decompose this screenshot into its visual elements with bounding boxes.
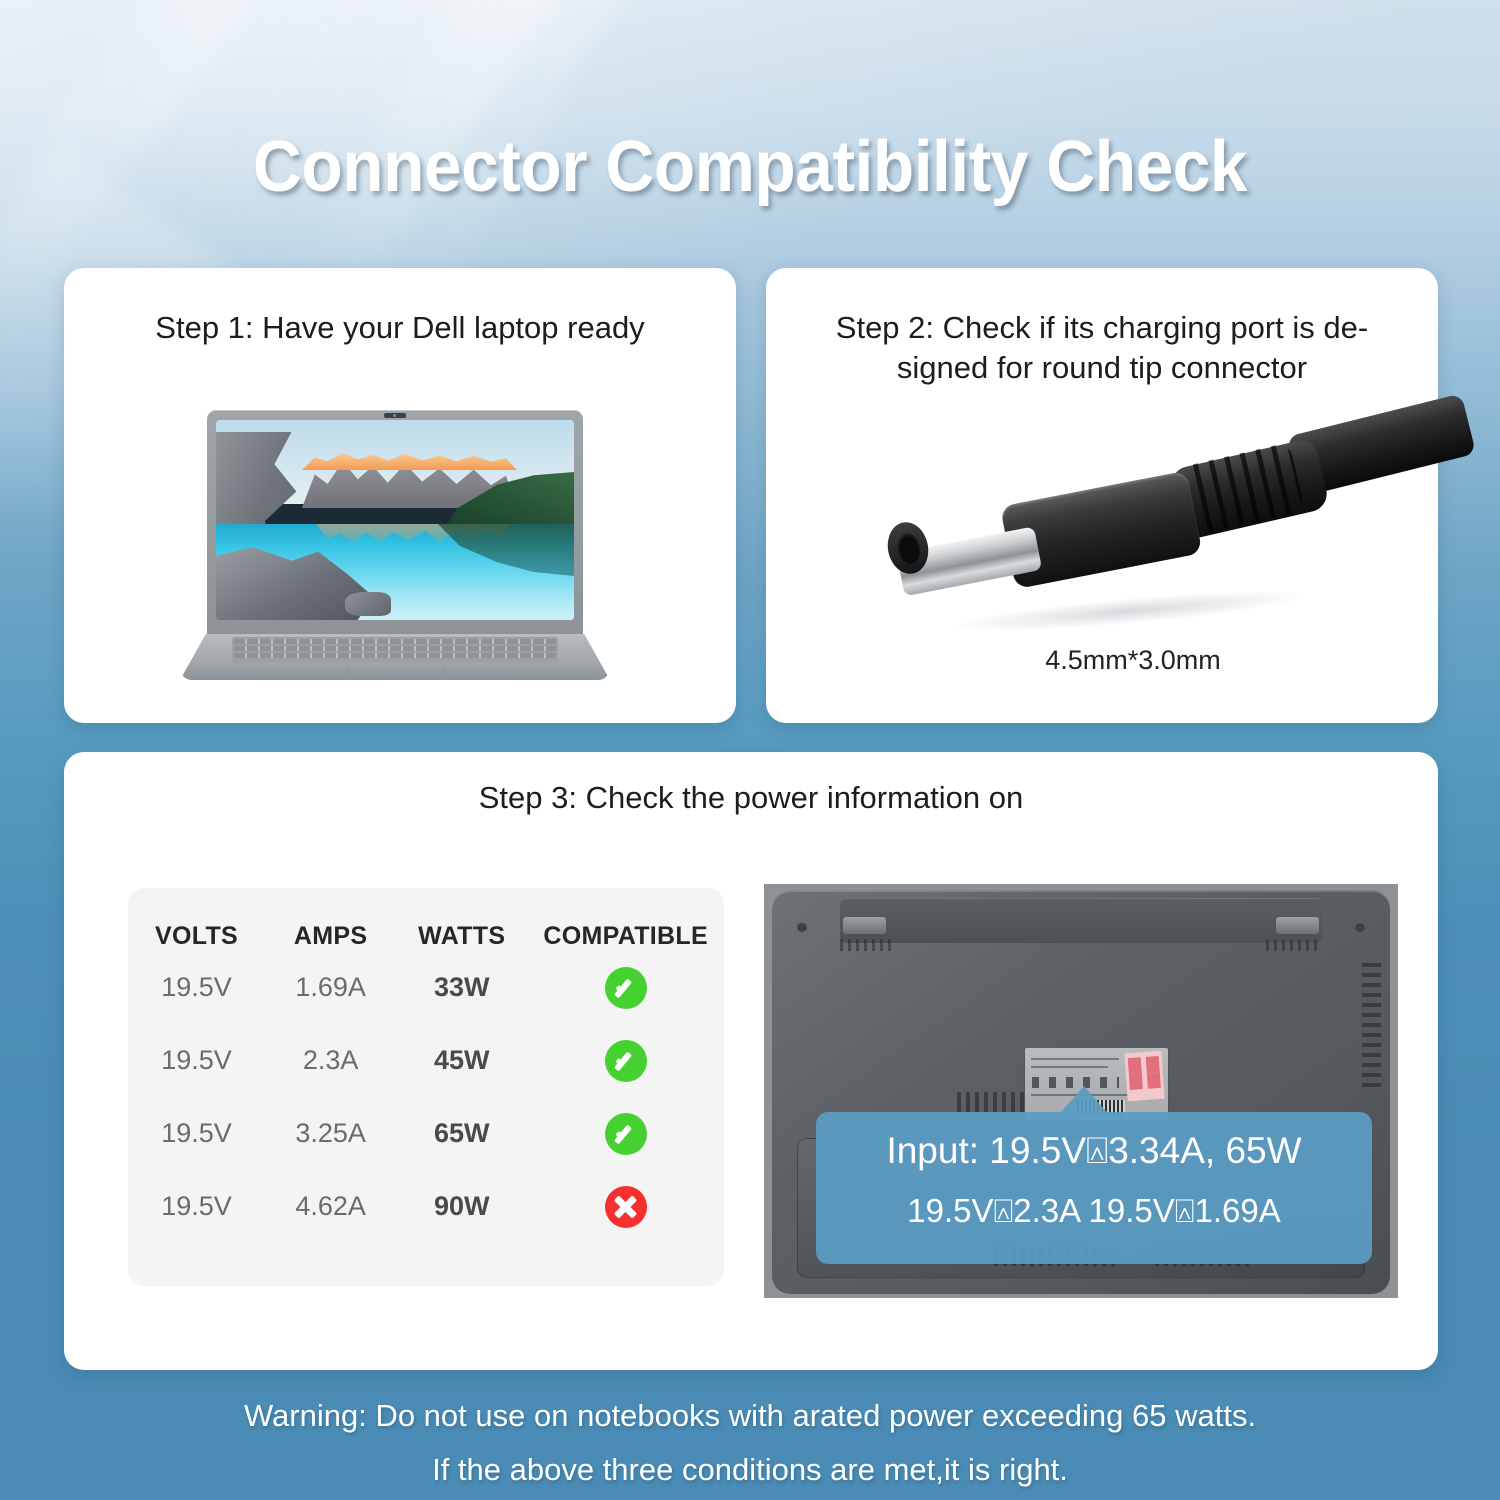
column-header-volts: VOLTS — [128, 888, 265, 951]
cell-compatible — [527, 1097, 724, 1170]
cell-amps: 2.3A — [265, 1024, 396, 1097]
webcam-icon — [384, 413, 406, 418]
cell-volts: 19.5V — [128, 951, 265, 1024]
laptop-bottom-case — [772, 890, 1390, 1294]
cell-compatible — [527, 1170, 724, 1243]
cell-volts: 19.5V — [128, 1170, 265, 1243]
cell-watts: 33W — [396, 951, 527, 1024]
laptop-screen — [216, 420, 574, 620]
screw-hole — [797, 922, 807, 932]
table-row: 19.5V 3.25A 65W — [128, 1097, 724, 1170]
warning-line-2: If the above three conditions are met,it… — [0, 1452, 1500, 1488]
table-row: 19.5V 1.69A 33W — [128, 951, 724, 1024]
column-header-watts: WATTS — [396, 888, 527, 951]
laptop-lid — [207, 410, 583, 636]
connector-size-label: 4.5mm*3.0mm — [766, 645, 1500, 676]
latch-icon-left — [840, 939, 896, 951]
table-header-row: VOLTS AMPS WATTS COMPATIBLE — [128, 888, 724, 951]
cell-watts: 90W — [396, 1170, 527, 1243]
cell-amps: 4.62A — [265, 1170, 396, 1243]
cell-amps: 3.25A — [265, 1097, 396, 1170]
connector-ribs — [1182, 442, 1305, 535]
windows-logo-sticker — [1125, 1051, 1165, 1101]
warning-line-1: Warning: Do not use on notebooks with ar… — [0, 1398, 1500, 1434]
cell-amps: 1.69A — [265, 951, 396, 1024]
check-circle-icon — [605, 1040, 647, 1082]
cell-volts: 19.5V — [128, 1097, 265, 1170]
poster-root: Connector Compatibility Check Step 1: Ha… — [0, 0, 1500, 1500]
cell-watts: 45W — [396, 1024, 527, 1097]
column-header-compatible: COMPATIBLE — [527, 888, 724, 951]
battery-latch-right — [1276, 917, 1319, 935]
power-spec-table: VOLTS AMPS WATTS COMPATIBLE 19.5V 1.69A … — [128, 888, 724, 1286]
cross-circle-icon — [605, 1186, 647, 1228]
barrel-connector-image — [890, 430, 1450, 645]
step-1-heading: Step 1: Have your Dell laptop ready — [64, 308, 736, 348]
step-3-heading: Step 3: Check the power information on — [64, 778, 1438, 818]
dell-laptop-image — [180, 398, 610, 683]
page-title: Connector Compatibility Check — [45, 126, 1455, 208]
battery-compartment — [840, 898, 1322, 942]
screw-hole — [1355, 922, 1365, 932]
laptop-keyboard — [232, 637, 559, 663]
laptop-trackpad — [348, 666, 445, 679]
cell-compatible — [527, 1024, 724, 1097]
vent-grille-right — [1362, 963, 1381, 1092]
table-row: 19.5V 4.62A 90W — [128, 1170, 724, 1243]
connector-shadow — [950, 582, 1311, 639]
step-2-heading: Step 2: Check if its charging port is de… — [766, 308, 1438, 389]
latch-icon-right — [1266, 939, 1322, 951]
table-row: 19.5V 2.3A 45W — [128, 1024, 724, 1097]
check-circle-icon — [605, 967, 647, 1009]
cell-watts: 65W — [396, 1097, 527, 1170]
column-header-amps: AMPS — [265, 888, 396, 951]
wallpaper-small-rock — [345, 592, 392, 616]
callout-line-2: 19.5V⍓2.3A 19.5V⍓1.69A — [816, 1192, 1372, 1231]
check-circle-icon — [605, 1113, 647, 1155]
cell-compatible — [527, 951, 724, 1024]
laptop-underside-photo — [764, 884, 1398, 1298]
battery-latch-left — [843, 917, 886, 935]
cell-volts: 19.5V — [128, 1024, 265, 1097]
callout-line-1: Input: 19.5V⍓3.34A, 65W — [816, 1130, 1372, 1173]
